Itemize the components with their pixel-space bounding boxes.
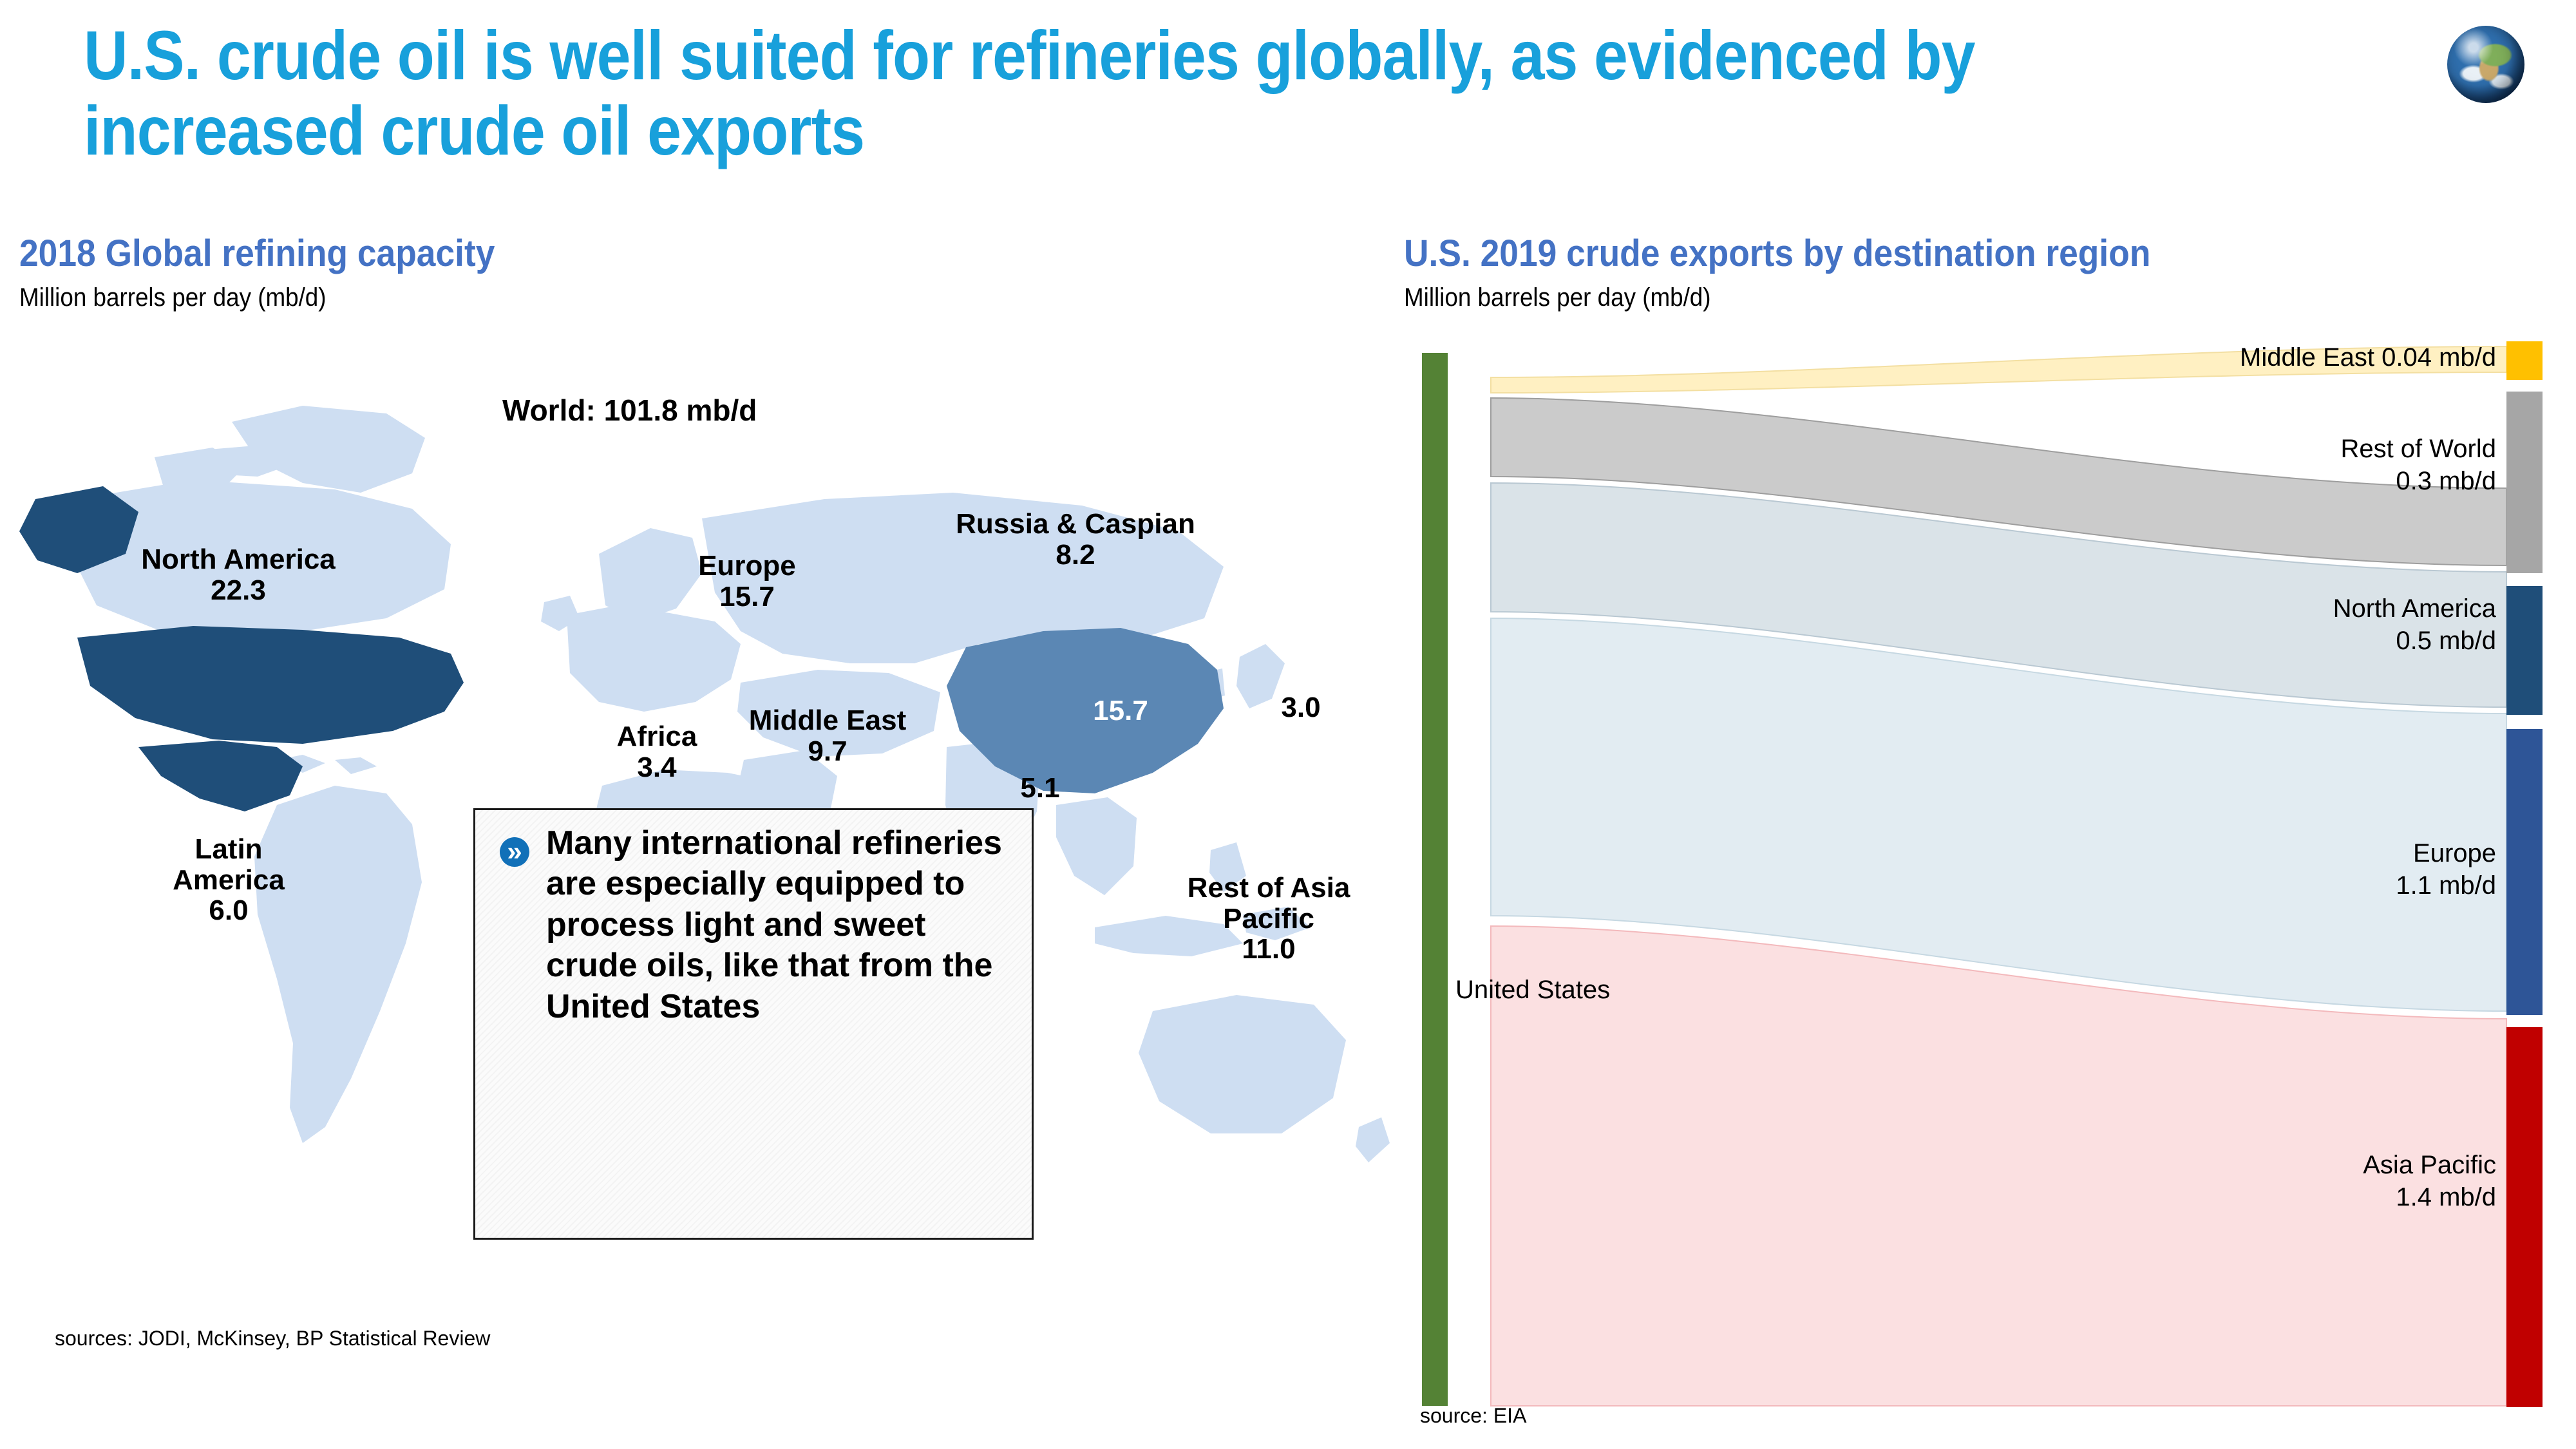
map-label-europe: Europe 15.7: [644, 551, 850, 612]
sankey-label-north-america-value: 0.5 mb/d: [2396, 627, 2496, 655]
callout-box: Many international refineries are especi…: [473, 808, 1034, 1240]
sankey-target-node-europe: [2506, 729, 2543, 1015]
sankey-target-node-north-america: [2506, 586, 2543, 715]
right-panel-subheading: Million barrels per day (mb/d): [1404, 283, 1711, 312]
right-panel-heading: U.S. 2019 crude exports by destination r…: [1404, 232, 2150, 275]
sankey-target-node-rest-of-world: [2506, 392, 2543, 573]
map-label-north-america: North America 22.3: [97, 544, 380, 605]
sankey-label-north-america: North America: [2333, 594, 2497, 623]
sankey-source-label: United States: [1455, 976, 1610, 1004]
sankey-source-node-united-states: [1422, 353, 1448, 1406]
earth-globe-icon: [2447, 26, 2524, 103]
sankey-label-asia-pacific: Asia Pacific: [2363, 1151, 2496, 1179]
sankey-label-middle-east: Middle East 0.04 mb/d: [2240, 343, 2496, 372]
callout-text: Many international refineries are especi…: [546, 823, 1018, 1027]
left-panel-subheading: Million barrels per day (mb/d): [19, 283, 327, 312]
sankey-label-europe-value: 1.1 mb/d: [2396, 871, 2496, 900]
sankey-target-node-asia-pacific: [2506, 1027, 2543, 1407]
sankey-label-rest-of-world: Rest of World: [2340, 435, 2496, 463]
map-label-russia-caspian: Russia & Caspian 8.2: [908, 509, 1243, 570]
sankey-label-asia-pacific-value: 1.4 mb/d: [2396, 1183, 2496, 1211]
sankey-label-rest-of-world-value: 0.3 mb/d: [2396, 467, 2496, 495]
sankey-label-europe: Europe: [2413, 839, 2496, 867]
chevron-double-right-icon: [500, 837, 529, 867]
map-label-china: 15.7: [1056, 696, 1185, 726]
left-panel-heading: 2018 Global refining capacity: [19, 232, 495, 275]
sankey-diagram: United States Middle East 0.04 mb/d Rest…: [1404, 335, 2576, 1430]
map-label-japan: 3.0: [1243, 692, 1359, 723]
map-label-middle-east: Middle East 9.7: [705, 705, 950, 766]
left-source-note: sources: JODI, McKinsey, BP Statistical …: [55, 1327, 490, 1350]
sankey-target-node-middle-east: [2506, 341, 2543, 380]
map-label-india: 5.1: [989, 773, 1092, 804]
right-source-note: source: EIA: [1420, 1404, 1526, 1428]
page-title: U.S. crude oil is well suited for refine…: [84, 18, 2079, 168]
map-label-rest-of-asia-pacific: Rest of Asia Pacific 11.0: [1153, 873, 1385, 965]
map-label-latin-america: Latin America 6.0: [126, 834, 332, 926]
